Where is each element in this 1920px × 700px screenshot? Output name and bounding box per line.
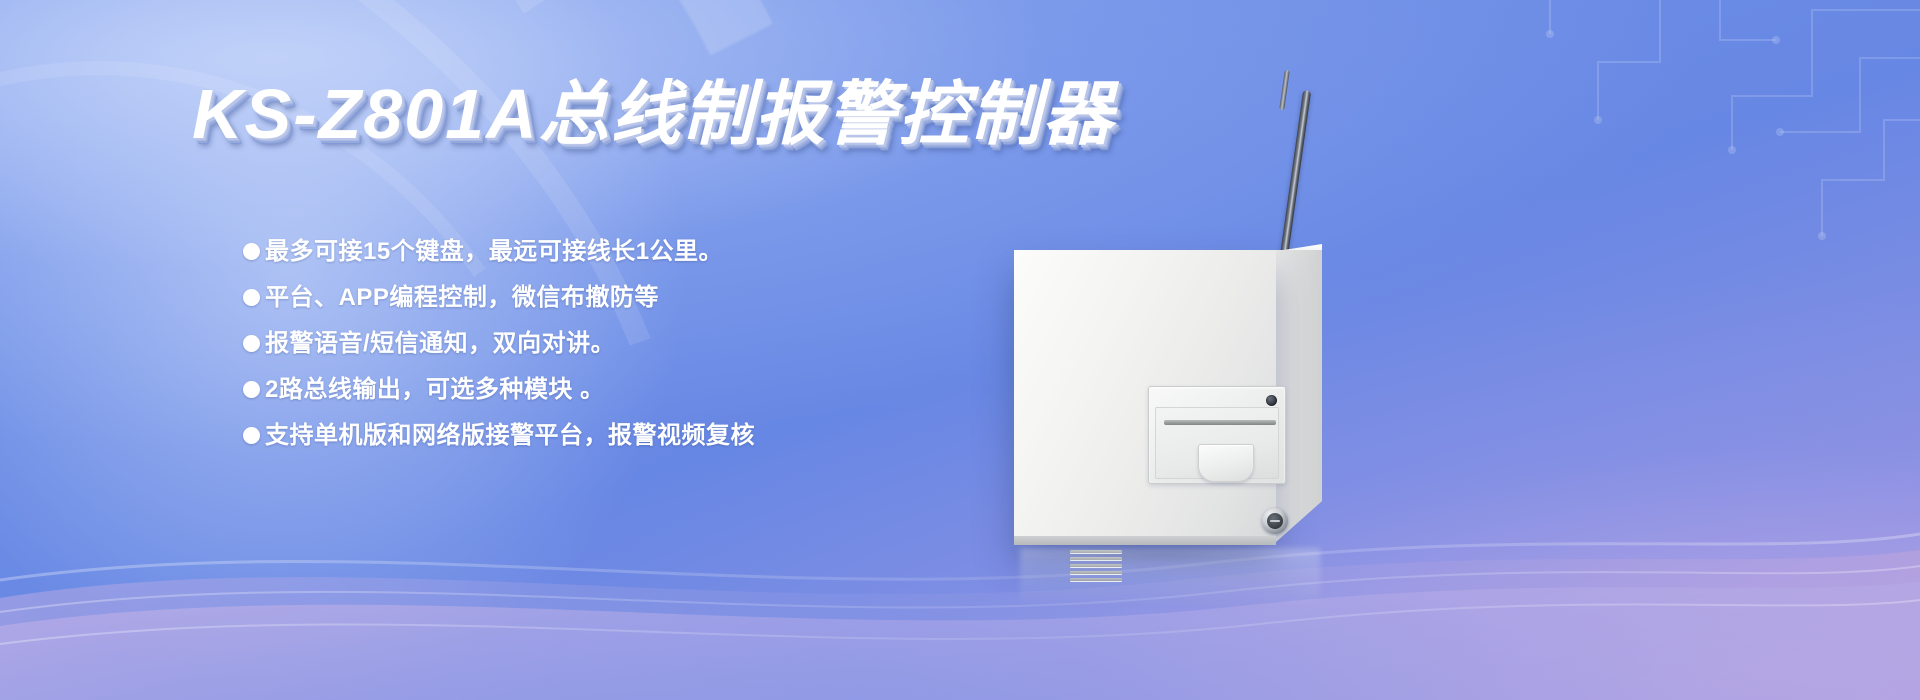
product-image xyxy=(980,150,1400,580)
feature-text: 最多可接15个键盘，最远可接线长1公里。 xyxy=(265,238,723,266)
page-title: KS-Z801A总线制报警控制器 xyxy=(192,76,1115,152)
status-indicator-led-icon xyxy=(1266,395,1277,406)
list-item: 最多可接15个键盘，最远可接线长1公里。 xyxy=(243,238,1003,266)
enclosure-door-face xyxy=(1014,250,1276,542)
list-item: 报警语音/短信通知，双向对讲。 xyxy=(243,330,1003,358)
product-reflection xyxy=(1020,548,1320,608)
filled-circle-bullet-icon xyxy=(243,335,260,352)
lock-keyway xyxy=(1270,520,1280,522)
filled-circle-bullet-icon xyxy=(243,427,260,444)
feature-text: 平台、APP编程控制，微信布撤防等 xyxy=(265,284,659,312)
feature-text: 报警语音/短信通知，双向对讲。 xyxy=(265,330,615,358)
product-banner: KS-Z801A总线制报警控制器 最多可接15个键盘，最远可接线长1公里。 平台… xyxy=(0,0,1920,700)
keypad-window-inner xyxy=(1155,407,1279,479)
filled-circle-bullet-icon xyxy=(243,381,260,398)
feature-text: 2路总线输出，可选多种模块 。 xyxy=(265,376,605,404)
list-item: 支持单机版和网络版接警平台，报警视频复核 xyxy=(243,422,1003,450)
key-lock-cylinder-icon xyxy=(1262,508,1288,534)
recessed-keypad-window xyxy=(1148,386,1286,484)
enclosure-bottom-edge xyxy=(1014,536,1276,545)
feature-text: 支持单机版和网络版接警平台，报警视频复核 xyxy=(265,422,755,450)
circuit-trace-decoration xyxy=(1360,0,1920,250)
bottom-wave-graphic xyxy=(0,430,1920,700)
list-item: 2路总线输出，可选多种模块 。 xyxy=(243,376,1003,404)
filled-circle-bullet-icon xyxy=(243,243,260,260)
list-item: 平台、APP编程控制，微信布撤防等 xyxy=(243,284,1003,312)
feature-list: 最多可接15个键盘，最远可接线长1公里。 平台、APP编程控制，微信布撤防等 报… xyxy=(243,238,1003,468)
door-latch-handle xyxy=(1198,444,1254,482)
window-slot xyxy=(1164,420,1276,425)
antenna-tip xyxy=(1279,70,1290,110)
filled-circle-bullet-icon xyxy=(243,289,260,306)
lock-core xyxy=(1267,513,1283,529)
